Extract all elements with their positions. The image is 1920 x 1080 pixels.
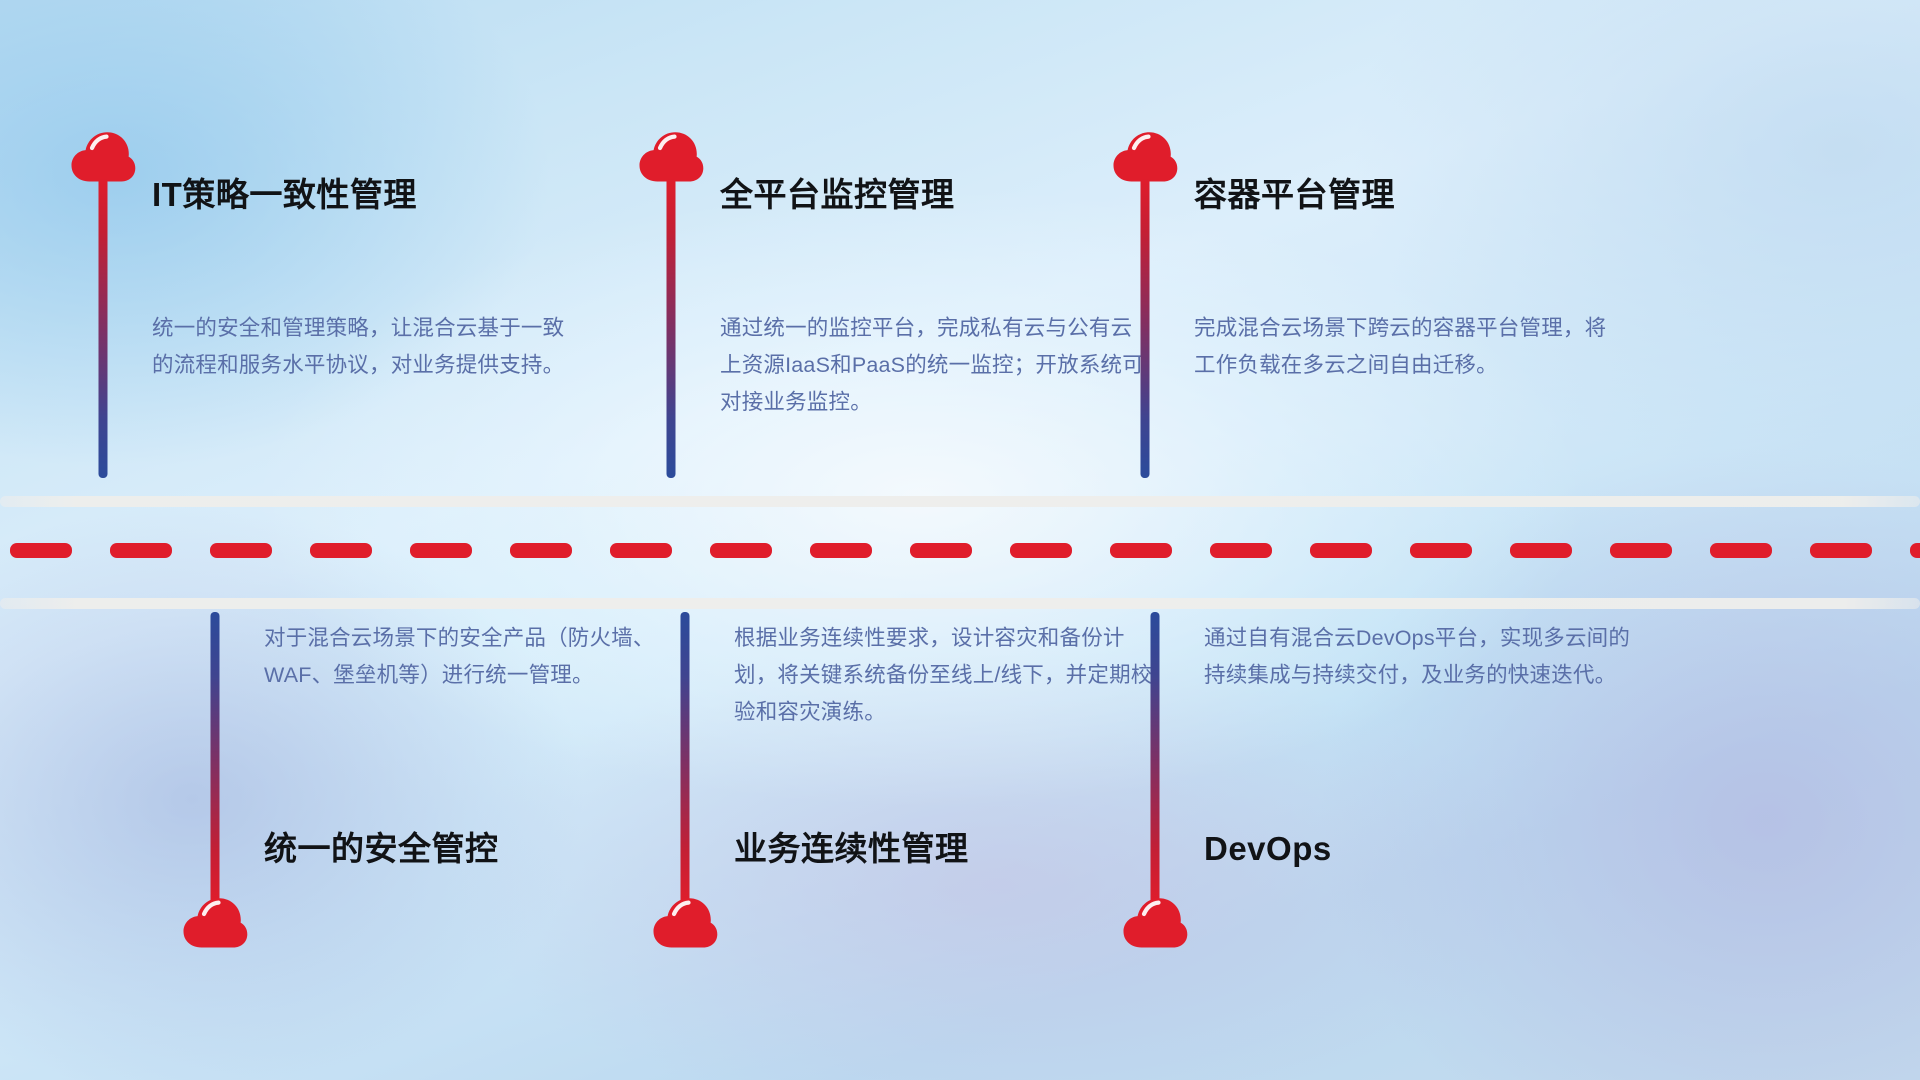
road-dash-segment [1510, 543, 1572, 558]
pin-title: DevOps [1204, 832, 1332, 865]
road-dash-segment [10, 543, 72, 558]
pin-body: 统一的安全和管理策略，让混合云基于一致的流程和服务水平协议，对业务提供支持。 [152, 310, 582, 384]
road-dash-segment [1210, 543, 1272, 558]
pin-body: 对于混合云场景下的安全产品（防火墙、WAF、堡垒机等）进行统一管理。 [264, 620, 694, 694]
pin-stem [681, 612, 690, 904]
road-dash-segment [1410, 543, 1472, 558]
cloud-pin-icon [638, 130, 704, 184]
road-dash-segment [1710, 543, 1772, 558]
pin-stem [211, 612, 220, 904]
road-dash-segment [510, 543, 572, 558]
road-dash-segment [1310, 543, 1372, 558]
road-dash-segment [710, 543, 772, 558]
road-dash-segment [210, 543, 272, 558]
road-dash-segment [1110, 543, 1172, 558]
infographic-canvas: IT策略一致性管理 统一的安全和管理策略，让混合云基于一致的流程和服务水平协议，… [0, 0, 1920, 1080]
pin-stem [1151, 612, 1160, 904]
road-dashed-line [0, 542, 1920, 558]
road-edge-bottom [0, 598, 1920, 609]
cloud-pin-icon [652, 896, 718, 950]
road-dash-segment [610, 543, 672, 558]
cloud-pin-icon [182, 896, 248, 950]
pin-title: IT策略一致性管理 [152, 178, 417, 211]
cloud-pin-icon [70, 130, 136, 184]
road-dash-segment [1910, 543, 1920, 558]
pin-title: 全平台监控管理 [720, 178, 955, 211]
road-dash-segment [810, 543, 872, 558]
background-glow-center [0, 0, 1920, 1080]
pin-stem [1141, 178, 1150, 478]
pin-body: 根据业务连续性要求，设计容灾和备份计划，将关键系统备份至线上/线下，并定期校验和… [734, 620, 1164, 731]
road-dash-segment [110, 543, 172, 558]
pin-stem [667, 178, 676, 478]
road-dash-segment [410, 543, 472, 558]
cloud-pin-icon [1112, 130, 1178, 184]
road-dash-segment [910, 543, 972, 558]
pin-title: 容器平台管理 [1194, 178, 1395, 211]
road-edge-top [0, 496, 1920, 507]
road-dash-segment [1010, 543, 1072, 558]
pin-title: 统一的安全管控 [264, 832, 499, 865]
road-dash-segment [1610, 543, 1672, 558]
road-dash-segment [1810, 543, 1872, 558]
pin-body: 通过自有混合云DevOps平台，实现多云间的持续集成与持续交付，及业务的快速迭代… [1204, 620, 1634, 694]
pin-stem [99, 178, 108, 478]
road-dash-segment [310, 543, 372, 558]
pin-title: 业务连续性管理 [734, 832, 969, 865]
pin-body: 通过统一的监控平台，完成私有云与公有云上资源IaaS和PaaS的统一监控；开放系… [720, 310, 1150, 421]
cloud-pin-icon [1122, 896, 1188, 950]
pin-body: 完成混合云场景下跨云的容器平台管理，将工作负载在多云之间自由迁移。 [1194, 310, 1624, 384]
